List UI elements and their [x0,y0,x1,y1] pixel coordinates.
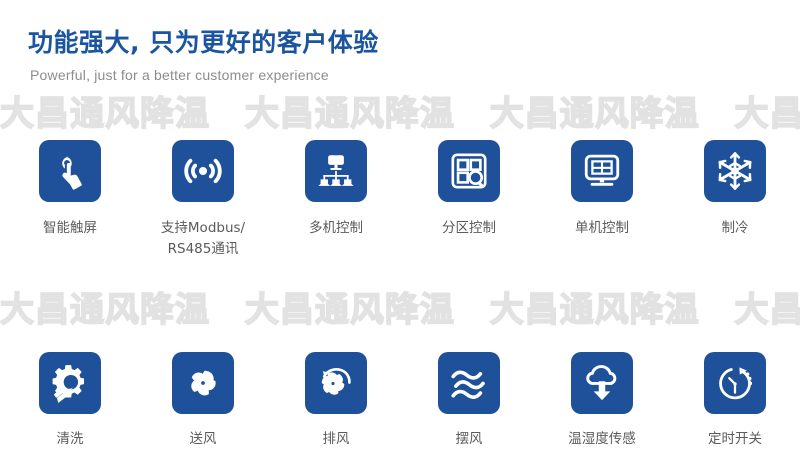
feature-tile[interactable] [172,352,234,414]
feature-label: 单机控制 [575,218,629,239]
feature-item-touch-screen[interactable]: 智能触屏 [7,140,133,260]
feature-label: 制冷 [722,218,749,239]
zone-grid-search-icon [448,150,490,192]
clock-timer-icon [714,362,756,404]
wave-lines-icon [448,362,490,404]
page-title: 功能强大, 只为更好的客户体验 [28,28,379,58]
feature-tile[interactable] [305,352,367,414]
feature-item-multi-control[interactable]: 多机控制 [273,140,399,260]
feature-tile[interactable] [438,140,500,202]
monitor-icon [581,150,623,192]
watermark-text: 大昌通风降温 [490,86,700,135]
feature-tile[interactable] [571,140,633,202]
feature-label: 送风 [190,429,217,450]
feature-label: 定时开关 [708,429,762,450]
feature-label: 分区控制 [442,218,496,239]
feature-item-modbus[interactable]: 支持Modbus/ RS485通讯 [140,140,266,260]
cloud-down-arrow-icon [581,362,623,404]
feature-item-air-supply[interactable]: 送风 [140,352,266,450]
feature-item-exhaust[interactable]: 排风 [273,352,399,450]
page-header: 功能强大, 只为更好的客户体验 Powerful, just for a bet… [28,28,379,83]
feature-label: 排风 [323,429,350,450]
feature-tile[interactable] [39,352,101,414]
feature-item-temp-humidity[interactable]: 温湿度传感 [539,352,665,450]
feature-tile[interactable] [704,140,766,202]
feature-item-swing[interactable]: 摆风 [406,352,532,450]
watermark-row-top: 大昌通风降温 大昌通风降温 大昌通风降温 大昌通风降温 [0,86,800,135]
feature-item-cooling[interactable]: 制冷 [672,140,798,260]
snowflake-icon [714,150,756,192]
feature-item-single-control[interactable]: 单机控制 [539,140,665,260]
feature-item-zone-control[interactable]: 分区控制 [406,140,532,260]
feature-label: 支持Modbus/ RS485通讯 [161,218,245,260]
watermark-text: 大昌通风降温 [245,86,455,135]
gear-brush-icon [49,362,91,404]
feature-tile[interactable] [39,140,101,202]
page-subtitle: Powerful, just for a better customer exp… [30,67,379,83]
feature-item-timer[interactable]: 定时开关 [672,352,798,450]
feature-tile[interactable] [172,140,234,202]
feature-label: 温湿度传感 [568,429,636,450]
fan-exhaust-icon [315,362,357,404]
feature-tile[interactable] [438,352,500,414]
feature-label: 清洗 [57,429,84,450]
feature-tile[interactable] [704,352,766,414]
watermark-text: 大昌通风降温 [0,86,210,135]
feature-tile[interactable] [571,352,633,414]
feature-label: 摆风 [456,429,483,450]
fan-icon [182,362,224,404]
touch-screen-icon [50,151,90,191]
feature-row-2: 清洗 送风 [0,352,800,450]
watermark-text: 大昌通风降温 [735,86,800,135]
feature-label: 多机控制 [309,218,363,239]
feature-row-1: 智能触屏 支持Modbus/ RS485通讯 [0,140,800,260]
feature-grid: 智能触屏 支持Modbus/ RS485通讯 [0,140,800,450]
network-tree-icon [315,150,357,192]
feature-tile[interactable] [305,140,367,202]
wireless-signal-icon [182,150,224,192]
feature-label: 智能触屏 [43,218,97,239]
feature-item-cleaning[interactable]: 清洗 [7,352,133,450]
